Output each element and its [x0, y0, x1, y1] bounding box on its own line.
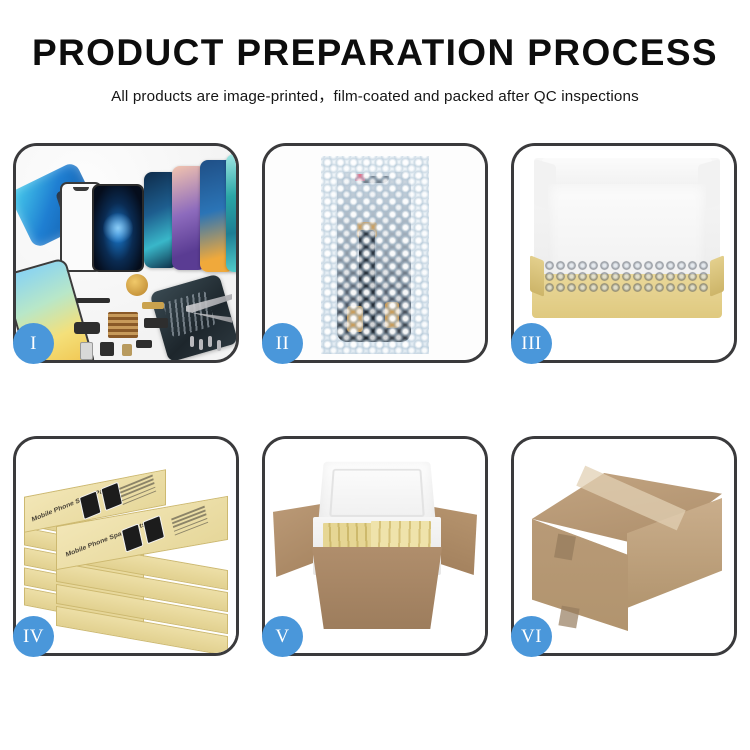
- step-image-carton-with-foam-insert: [265, 439, 485, 653]
- part-flex-8: [136, 340, 152, 348]
- step-panel-3[interactable]: III: [511, 143, 737, 363]
- bubble-bag-graphic: [321, 156, 429, 354]
- phone-display-graphic: [92, 184, 144, 272]
- part-flex-2: [74, 322, 100, 334]
- step-badge-3: III: [511, 323, 552, 364]
- carton-seal-mark-2: [558, 606, 579, 629]
- step-image-foam-lined-inner-box: [514, 146, 734, 360]
- step-badge-4: IV: [13, 616, 54, 657]
- box-stack-graphic: Mobile Phone Spare Parts Mobile Phone Sp…: [18, 463, 236, 643]
- part-flex-6: [100, 342, 114, 356]
- step-badge-1: I: [13, 323, 54, 364]
- bubble-texture-layer-2: [321, 156, 429, 354]
- tray-lip-left: [530, 255, 544, 297]
- carton-body-graphic: [303, 547, 451, 629]
- screws-graphic: [190, 336, 226, 354]
- part-flex-3: [142, 302, 164, 309]
- step-image-bubble-wrapped-screen: [265, 146, 485, 360]
- part-flex-5: [80, 342, 93, 360]
- step-image-sealed-shipping-carton: [514, 439, 734, 653]
- page-title: PRODUCT PREPARATION PROCESS: [0, 34, 750, 73]
- step-badge-5: V: [262, 616, 303, 657]
- chip-grid-graphic: [108, 312, 138, 338]
- tray-lip-right: [710, 255, 724, 297]
- part-flex-4: [144, 318, 168, 328]
- phone-graphic-4: [226, 154, 236, 272]
- step-badge-2: II: [262, 323, 303, 364]
- spare-parts-cluster-graphic: [74, 296, 184, 360]
- bubble-wrap-contents-graphic: [544, 260, 710, 292]
- copper-coil-icon: [126, 274, 148, 296]
- step-panel-2[interactable]: II: [262, 143, 488, 363]
- part-flex-1: [76, 298, 110, 303]
- foam-lid-graphic: [318, 462, 436, 526]
- page-subtitle: All products are image-printed，film-coat…: [0, 84, 750, 106]
- step-panel-6[interactable]: VI: [511, 436, 737, 656]
- step-panel-5[interactable]: V: [262, 436, 488, 656]
- step-image-product-assortment: [16, 146, 236, 360]
- part-flex-7: [122, 344, 132, 356]
- yellow-tray-base-graphic: [532, 274, 722, 318]
- step-badge-6: VI: [511, 616, 552, 657]
- step-panel-4[interactable]: Mobile Phone Spare Parts Mobile Phone Sp…: [13, 436, 239, 656]
- step-image-stacked-retail-boxes: Mobile Phone Spare Parts Mobile Phone Sp…: [16, 439, 236, 653]
- page-header: PRODUCT PREPARATION PROCESS All products…: [0, 0, 750, 106]
- process-steps-grid: I II: [13, 143, 737, 656]
- step-panel-1[interactable]: I: [13, 143, 239, 363]
